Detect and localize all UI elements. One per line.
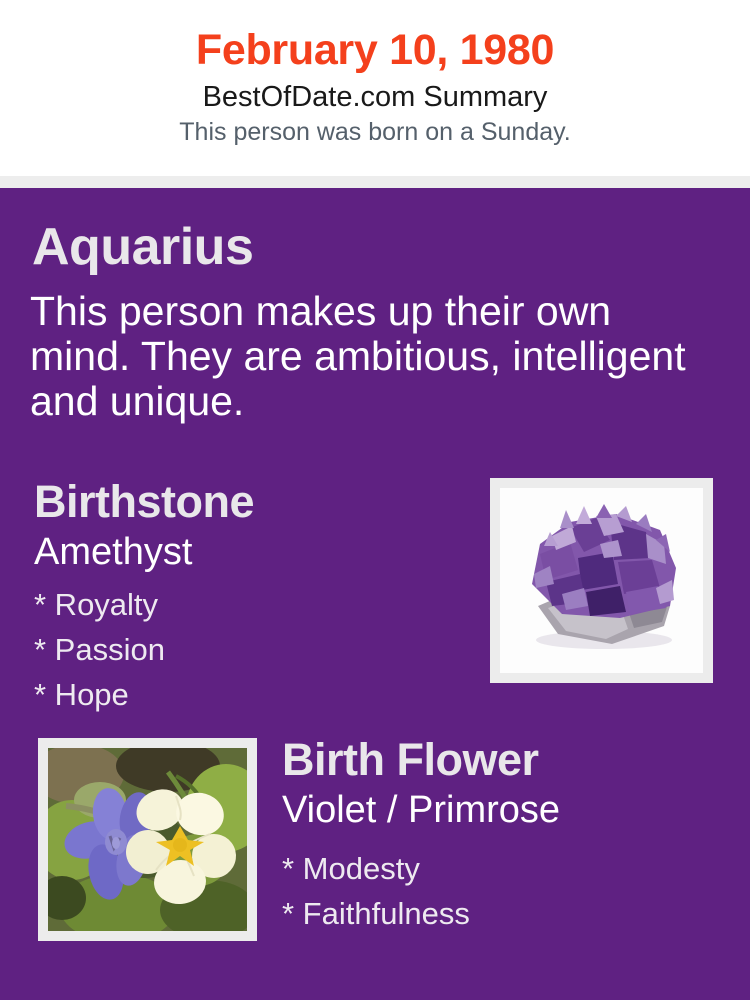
birth-flower-value: Violet / Primrose (282, 786, 732, 832)
violet-primrose-flower-icon (48, 748, 247, 931)
site-summary-subtitle: BestOfDate.com Summary (0, 76, 750, 115)
birth-flower-photo-frame (38, 738, 257, 941)
birthstone-trait-list: * Royalty * Passion * Hope (34, 574, 464, 717)
birth-flower-trait-list: * Modesty * Faithfulness (282, 832, 732, 936)
list-item: * Royalty (34, 582, 464, 627)
card-header: February 10, 1980 BestOfDate.com Summary… (0, 0, 750, 176)
zodiac-description: This person makes up their own mind. The… (30, 289, 690, 424)
birthstone-title: Birthstone (34, 476, 464, 528)
page-title-date: February 10, 1980 (0, 0, 750, 76)
birth-flower-section: Birth Flower Violet / Primrose * Modesty… (282, 734, 732, 936)
summary-card: February 10, 1980 BestOfDate.com Summary… (0, 0, 750, 1000)
amethyst-image (500, 488, 703, 673)
list-item: * Passion (34, 627, 464, 672)
violet-primrose-image (48, 748, 247, 931)
birthstone-section: Birthstone Amethyst * Royalty * Passion … (34, 476, 464, 717)
list-item: * Faithfulness (282, 891, 732, 936)
zodiac-sign-title: Aquarius (32, 218, 253, 276)
birthstone-value: Amethyst (34, 528, 464, 574)
birthstone-photo-frame (490, 478, 713, 683)
list-item: * Hope (34, 672, 464, 717)
amethyst-crystal-icon (500, 488, 703, 673)
header-divider (0, 176, 750, 188)
birth-flower-title: Birth Flower (282, 734, 732, 786)
birth-day-note: This person was born on a Sunday. (0, 115, 750, 147)
list-item: * Modesty (282, 846, 732, 891)
